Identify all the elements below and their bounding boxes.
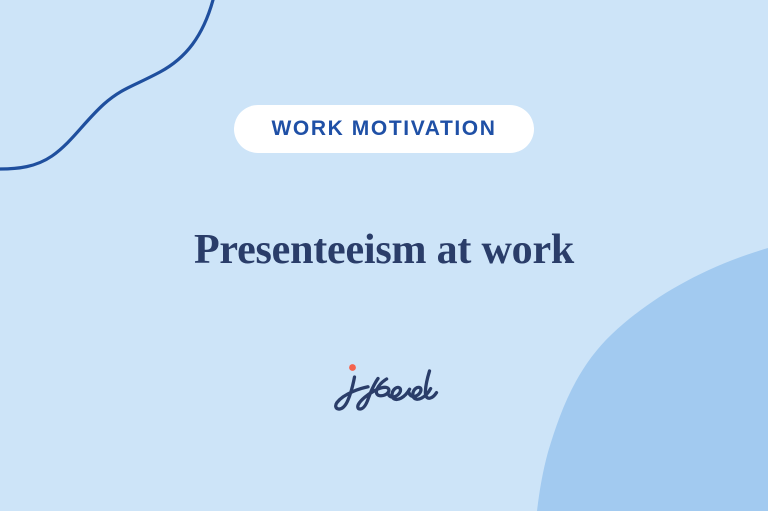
- category-badge: WORK MOTIVATION: [234, 105, 534, 153]
- category-badge-label: WORK MOTIVATION: [271, 117, 496, 141]
- promo-card: WORK MOTIVATION Presenteeism at work: [0, 0, 768, 511]
- ifeel-logo: [329, 359, 439, 411]
- page-title: Presenteeism at work: [194, 226, 574, 274]
- card-content: WORK MOTIVATION Presenteeism at work: [0, 0, 768, 511]
- logo-dot-icon: [349, 364, 356, 371]
- logo-script-strokes: [336, 371, 437, 409]
- ifeel-logo-mark: [329, 359, 439, 411]
